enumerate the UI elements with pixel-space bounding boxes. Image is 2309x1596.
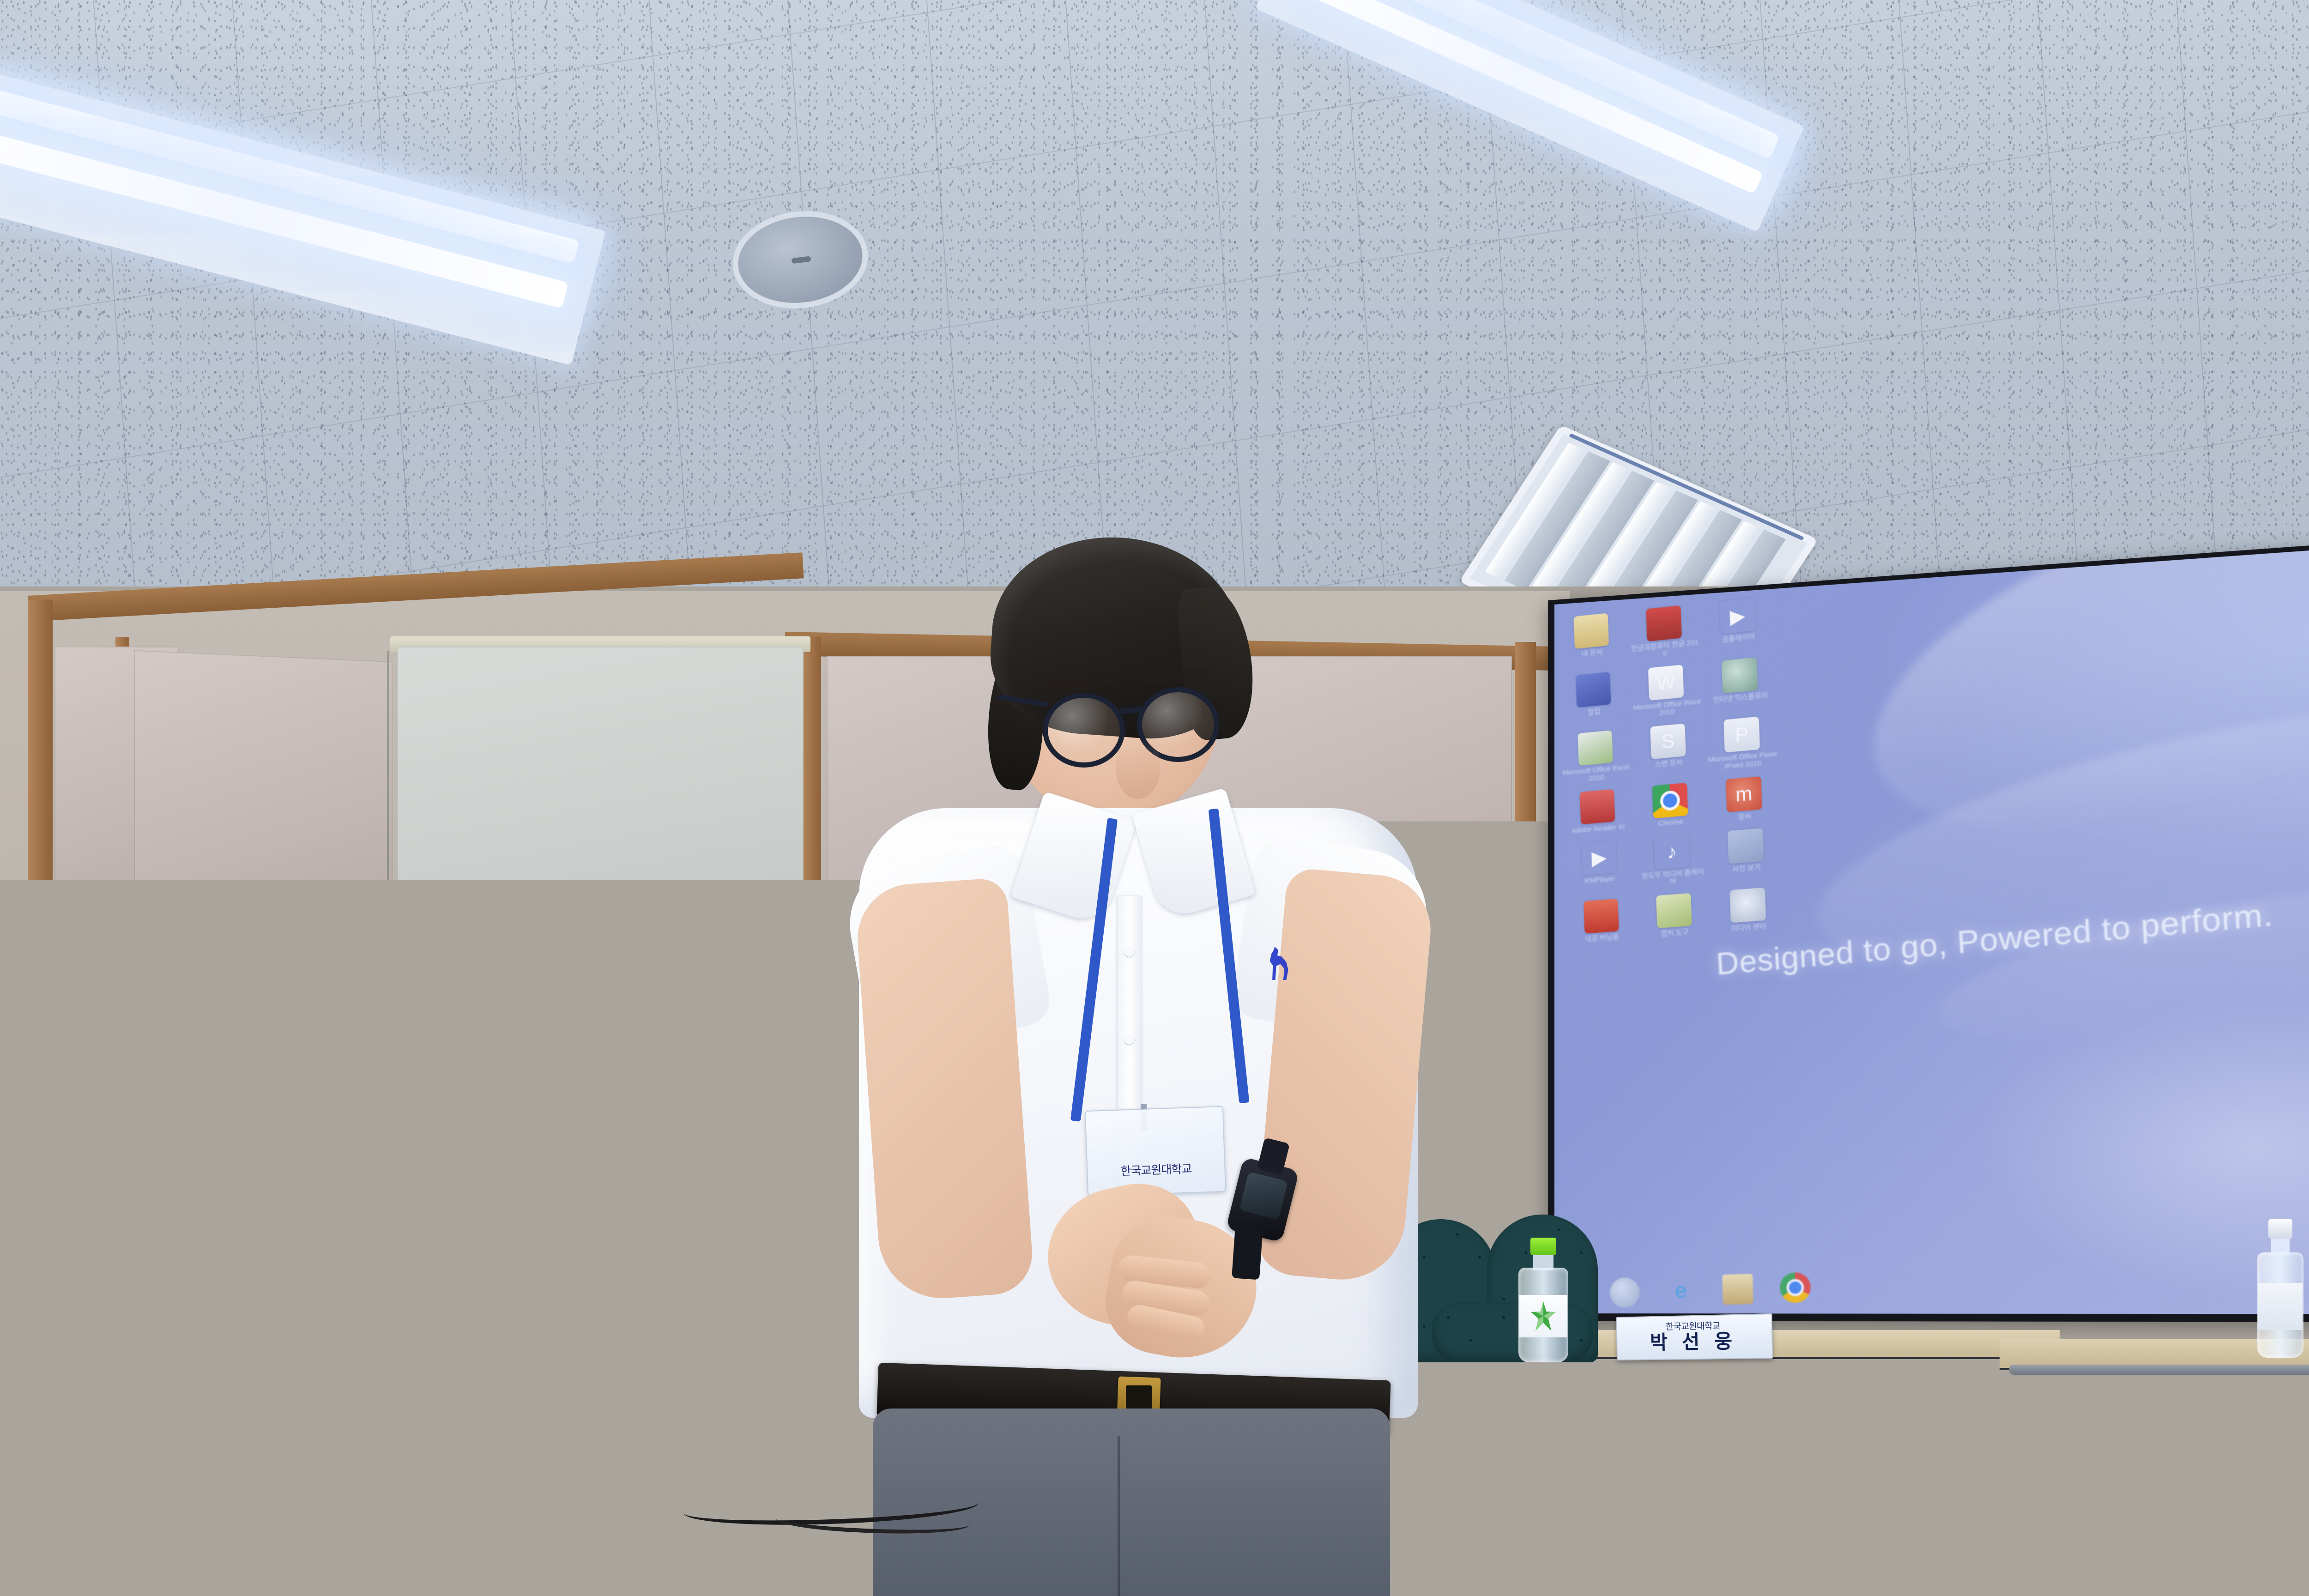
desktop-icon-label: Microsoft Office Excel 2010 [1562,764,1630,786]
mail-icon: P [1723,717,1760,753]
desktop-icon[interactable]: Adobe Reader XI [1562,787,1633,836]
desktop-icon-label: 스캔 문서 [1655,759,1683,769]
desktop-icon-label: 한글과컴퓨터 한글 2010 [1630,639,1699,661]
desktop-icon[interactable]: 인터넷 익스플로러 [1704,655,1777,713]
desktop-icon[interactable]: m알씨 [1708,774,1781,824]
bottle-cap [1530,1238,1556,1255]
speaker-slot [792,256,811,264]
chrome-taskbar-icon[interactable] [1779,1272,1811,1303]
desktop-icon-label: 곰플레이어 [1722,633,1755,644]
desktop-icon-grid[interactable]: 내 문서한글과컴퓨터 한글 2010▶곰플레이어알집WMicrosoft Off… [1556,595,1789,945]
chrome-icon [1652,783,1688,818]
open-book[interactable] [195,1472,516,1596]
nameplate-organization: 한국교원대학교 [1666,1322,1721,1331]
seminar-room-photo: 내 문서한글과컴퓨터 한글 2010▶곰플레이어알집WMicrosoft Off… [0,0,2309,1596]
desktop-icon[interactable]: 캡처 도구 [1638,892,1711,940]
earth-browser-icon [1722,657,1758,694]
table-cable-rail [1390,1365,2037,1375]
chair[interactable] [2032,1395,2143,1533]
shirt-button [1124,947,1134,957]
clasped-hands [1039,1178,1261,1372]
desktop-icon[interactable]: 한글과컴퓨터 한글 2010 [1628,604,1700,661]
start-button-icon[interactable] [1609,1277,1640,1308]
desktop-icon[interactable]: 내 문서 [1556,611,1627,668]
projected-desktop[interactable]: 내 문서한글과컴퓨터 한글 2010▶곰플레이어알집WMicrosoft Off… [1554,539,2309,1314]
file-explorer-icon[interactable] [1722,1274,1753,1305]
eyeglass-lens-right [68,1545,115,1576]
disc-burn-icon [1584,899,1619,934]
desktop-icon-label: 알씨 [1738,812,1751,821]
desktop-icon-label: 인터넷 익스플로러 [1713,691,1768,704]
desktop-icon[interactable]: 미디어 센터 [1711,886,1784,935]
cd-icon [1729,888,1766,923]
desktop-icon[interactable]: 네로 버닝롬 [1566,897,1637,945]
desktop-icon-label: Microsoft Office PowerPoint 2010 [1708,750,1778,773]
media-play2-icon: ▶ [1582,840,1617,875]
nameplate-name: 박 선 웅 [1650,1331,1737,1353]
arm-left [854,877,1035,1303]
wood-trim-vertical-left [28,600,53,1293]
desktop-icon-label: 캡처 도구 [1661,929,1689,938]
desk-nameplate: 한국교원대학교 박 선 웅 [1616,1313,1773,1360]
camera-icon [1656,893,1692,928]
internet-explorer-icon[interactable]: e [1666,1276,1697,1306]
water-bottle-right[interactable] [2257,1219,2303,1358]
desktop-icon[interactable]: ♪윈도우 미디어 플레이어 [1636,833,1708,889]
desktop-icon-label: 알집 [1588,707,1601,716]
retractable-projection-screen[interactable] [397,647,804,1256]
projection-screen[interactable]: 내 문서한글과컴퓨터 한글 2010▶곰플레이어알집WMicrosoft Off… [1548,534,2309,1322]
blue-app-icon [1576,671,1611,707]
desktop-icon[interactable]: 사진 보기 [1710,826,1783,883]
bottle-label [2258,1283,2303,1330]
shirt-button [1124,1034,1134,1045]
orange-app-icon: m [1726,776,1762,812]
desktop-icon[interactable]: ▶곰플레이어 [1701,596,1775,654]
desktop-icon-label: KMPlayer [1585,875,1615,885]
red-app-icon [1646,605,1682,641]
desktop-icon[interactable]: Chrome [1634,781,1706,830]
desktop-icon-label: 윈도우 미디어 플레이어 [1638,868,1708,889]
document-icon: W [1648,665,1684,701]
desktop-icon-label: 사진 보기 [1732,864,1761,874]
cup-logo-icon [2,1481,41,1511]
paper-cup[interactable] [0,1439,54,1544]
water-bottle-left[interactable] [1518,1238,1568,1362]
leaf-logo-icon [1531,1301,1556,1331]
presenter: 한국교원대학교 [859,531,1487,1596]
taskbar[interactable]: e [1554,1243,2309,1314]
book-page-right [348,1500,517,1596]
desktop-icon-label: 내 문서 [1581,648,1602,658]
wood-trim-vertical-right [1515,642,1536,1279]
text-doc-icon: S [1650,724,1686,760]
trouser-seam [1118,1436,1120,1596]
desktop-icon[interactable]: 알집 [1558,670,1629,727]
desktop-icon[interactable]: WMicrosoft Office Word 2010 [1630,663,1702,720]
desktop-icon[interactable]: PMicrosoft Office PowerPoint 2010 [1705,715,1779,773]
picture-icon [1728,828,1764,864]
eyeglass-lens-left [13,1553,60,1584]
folder-icon [1573,613,1609,649]
desktop-icon[interactable]: S스캔 문서 [1632,722,1705,779]
adobe-reader-icon [1580,789,1615,825]
watch-face [1239,1172,1288,1220]
green-sheet-icon [1578,730,1613,766]
bottle-label [1519,1295,1567,1337]
media-play-icon: ▶ [1719,598,1756,634]
watch-strap [1232,1227,1263,1280]
music-note-icon: ♪ [1654,834,1690,870]
desktop-icon-label: 네로 버닝롬 [1585,933,1619,943]
id-badge-text: 한국교원대학교 [1120,1160,1192,1179]
desktop-icon-label: Microsoft Office Word 2010 [1632,698,1702,720]
desktop-icon-label: 미디어 센터 [1731,923,1766,933]
table-cable-rail [2009,1365,2309,1375]
desktop-icon[interactable]: ▶KMPlayer [1564,839,1635,895]
wood-trim-vertical-mid [802,637,821,1279]
bottle-cap [2268,1219,2292,1239]
wall-panel [134,650,393,948]
wall-panel [134,937,393,1280]
eyeglass-temple [109,1542,169,1552]
eyeglass-lens-left [1043,693,1125,768]
bottle-neck [2271,1237,2290,1255]
bottle-neck [1533,1254,1553,1270]
nose [1116,739,1160,799]
desktop-icon-label: Chrome [1658,818,1684,828]
roller-screen-pull-cord[interactable] [387,651,389,1251]
desktop-icon-label: Adobe Reader XI [1572,823,1625,835]
table-label-tag [1940,1388,1994,1416]
desktop-icon[interactable]: Microsoft Office Excel 2010 [1560,729,1631,785]
